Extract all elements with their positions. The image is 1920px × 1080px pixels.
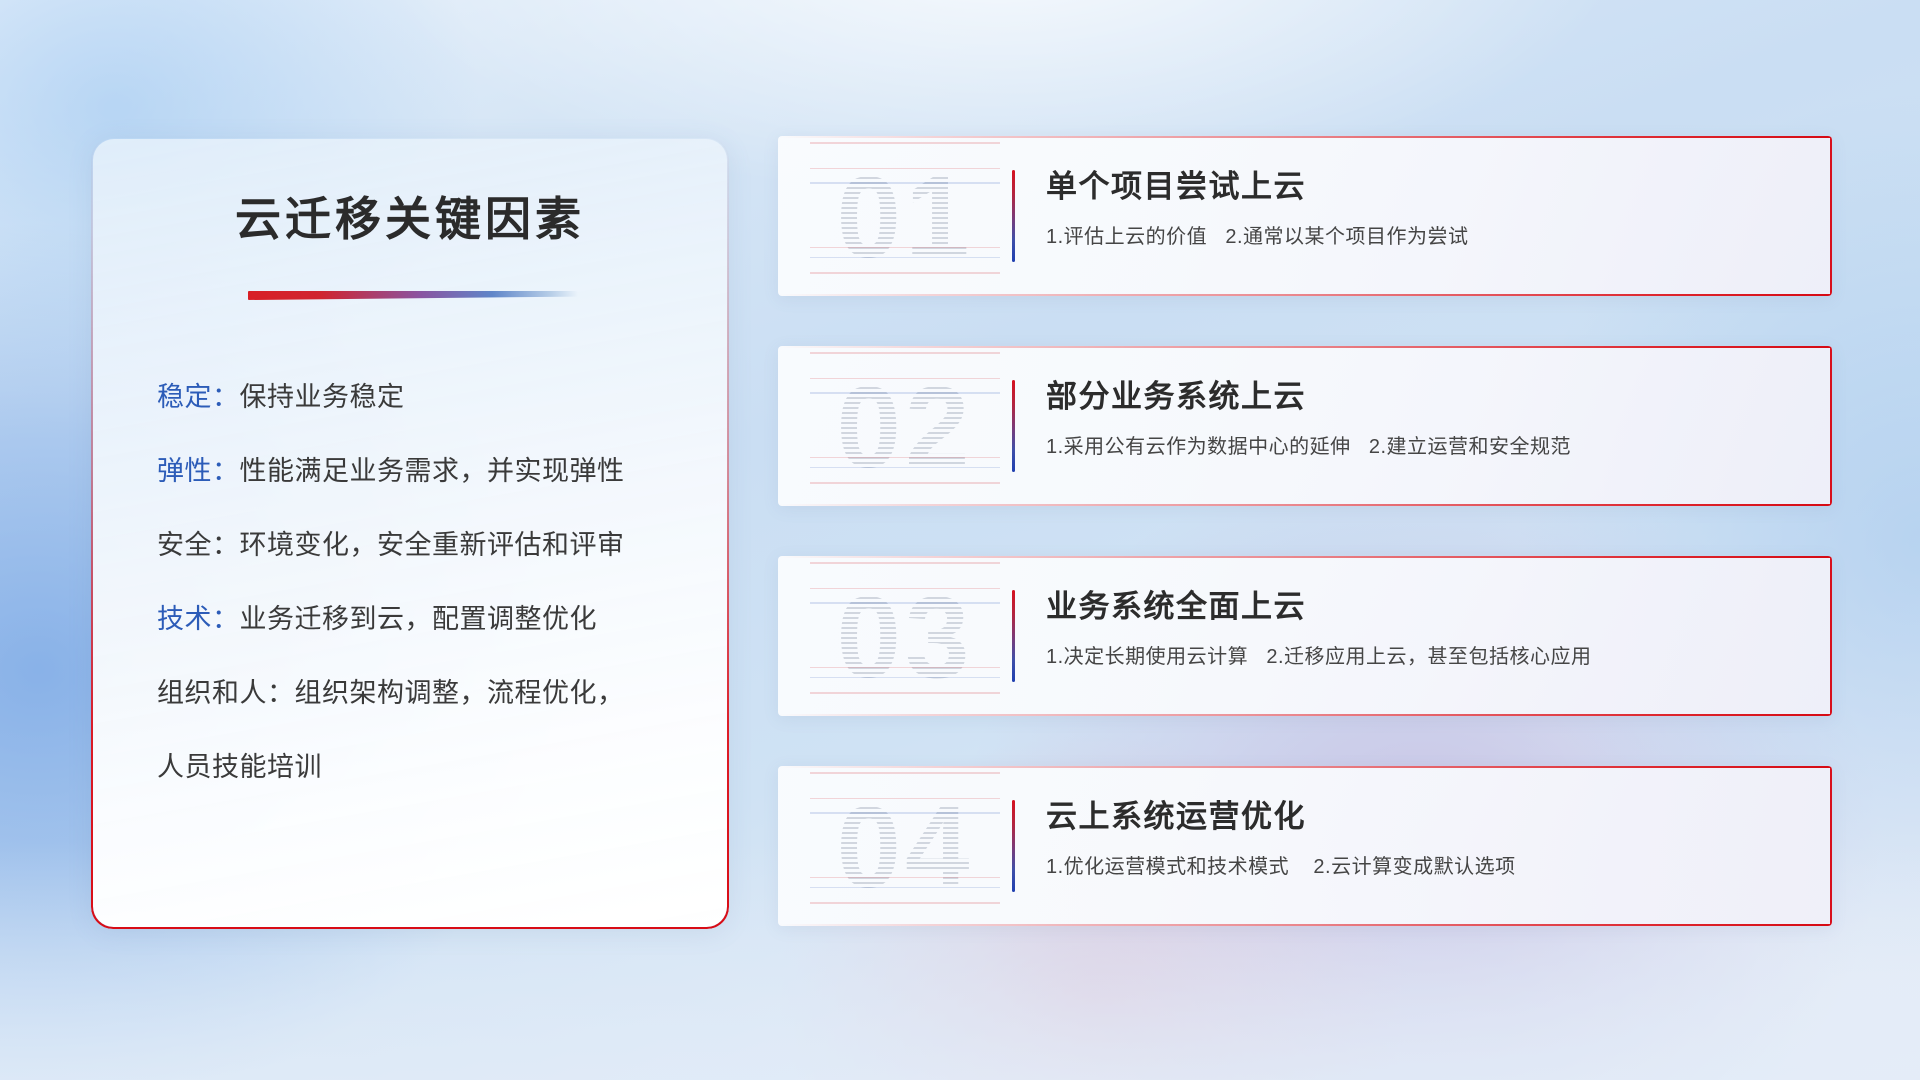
card-description: 1.评估上云的价值 2.通常以某个项目作为尝试 [1046, 220, 1804, 249]
title-underline-accent [248, 291, 578, 300]
card-description: 1.优化运营模式和技术模式 2.云计算变成默认选项 [1046, 850, 1804, 879]
factor-row: 稳定：保持业务稳定 [157, 384, 697, 411]
factor-text: 性能满足业务需求，并实现弹性 [240, 456, 625, 486]
factor-label: 组织和人： [157, 678, 295, 708]
card-bottom-accent-border [778, 504, 1832, 506]
factor-text: 人员技能培训 [157, 752, 322, 782]
factor-label: 稳定： [157, 382, 240, 412]
card-top-accent-border [778, 346, 1832, 348]
card-step-number: 01 [810, 142, 1000, 292]
factor-text: 保持业务稳定 [240, 382, 405, 412]
card-step-number: 03 [810, 562, 1000, 712]
slide-canvas: 云迁移关键因素 稳定：保持业务稳定弹性：性能满足业务需求，并实现弹性安全：环境变… [0, 0, 1920, 1080]
page-title: 云迁移关键因素 [93, 183, 727, 249]
card-title: 单个项目尝试上云 [1046, 168, 1804, 207]
factor-list: 稳定：保持业务稳定弹性：性能满足业务需求，并实现弹性安全：环境变化，安全重新评估… [157, 384, 697, 781]
card-step-number-text: 02 [836, 360, 973, 494]
card-top-accent-border [778, 766, 1832, 768]
card-body: 部分业务系统上云1.采用公有云作为数据中心的延伸 2.建立运营和安全规范 [1046, 378, 1804, 459]
card-step-number: 02 [810, 352, 1000, 502]
card-bottom-accent-border [778, 714, 1832, 716]
factor-row: 技术：业务迁移到云，配置调整优化 [157, 606, 697, 633]
stage-card[interactable]: 02部分业务系统上云1.采用公有云作为数据中心的延伸 2.建立运营和安全规范 [778, 346, 1832, 506]
factor-label: 技术： [157, 604, 240, 634]
factor-row: 弹性：性能满足业务需求，并实现弹性 [157, 458, 697, 485]
stage-card[interactable]: 03业务系统全面上云1.决定长期使用云计算 2.迁移应用上云，甚至包括核心应用 [778, 556, 1832, 716]
card-description: 1.采用公有云作为数据中心的延伸 2.建立运营和安全规范 [1046, 430, 1804, 459]
card-top-accent-border [778, 556, 1832, 558]
factor-text: 业务迁移到云，配置调整优化 [240, 604, 598, 634]
card-accent-divider [1012, 170, 1015, 262]
factor-label: 安全： [157, 530, 240, 560]
stage-card[interactable]: 01单个项目尝试上云1.评估上云的价值 2.通常以某个项目作为尝试 [778, 136, 1832, 296]
card-right-accent-border [1830, 136, 1832, 296]
card-body: 云上系统运营优化1.优化运营模式和技术模式 2.云计算变成默认选项 [1046, 798, 1804, 879]
factor-text: 环境变化，安全重新评估和评审 [240, 530, 625, 560]
card-step-number-text: 04 [836, 780, 973, 914]
card-body: 业务系统全面上云1.决定长期使用云计算 2.迁移应用上云，甚至包括核心应用 [1046, 588, 1804, 669]
factor-row: 安全：环境变化，安全重新评估和评审 [157, 532, 697, 559]
card-step-number-text: 01 [836, 150, 973, 284]
card-description: 1.决定长期使用云计算 2.迁移应用上云，甚至包括核心应用 [1046, 640, 1804, 669]
card-top-accent-border [778, 136, 1832, 138]
card-accent-divider [1012, 800, 1015, 892]
card-bottom-accent-border [778, 294, 1832, 296]
stage-card-list: 01单个项目尝试上云1.评估上云的价值 2.通常以某个项目作为尝试02部分业务系… [778, 136, 1832, 926]
key-factors-panel: 云迁移关键因素 稳定：保持业务稳定弹性：性能满足业务需求，并实现弹性安全：环境变… [92, 138, 728, 928]
factor-label: 弹性： [157, 456, 240, 486]
card-right-accent-border [1830, 346, 1832, 506]
card-body: 单个项目尝试上云1.评估上云的价值 2.通常以某个项目作为尝试 [1046, 168, 1804, 249]
card-step-number-text: 03 [836, 570, 973, 704]
factor-text: 组织架构调整，流程优化， [295, 678, 625, 708]
factor-row: 人员技能培训 [157, 754, 697, 781]
factor-row: 组织和人：组织架构调整，流程优化， [157, 680, 697, 707]
stage-card[interactable]: 04云上系统运营优化1.优化运营模式和技术模式 2.云计算变成默认选项 [778, 766, 1832, 926]
card-accent-divider [1012, 380, 1015, 472]
card-right-accent-border [1830, 766, 1832, 926]
card-right-accent-border [1830, 556, 1832, 716]
card-title: 部分业务系统上云 [1046, 378, 1804, 417]
card-accent-divider [1012, 590, 1015, 682]
card-bottom-accent-border [778, 924, 1832, 926]
card-title: 业务系统全面上云 [1046, 588, 1804, 627]
card-title: 云上系统运营优化 [1046, 798, 1804, 837]
card-step-number: 04 [810, 772, 1000, 922]
